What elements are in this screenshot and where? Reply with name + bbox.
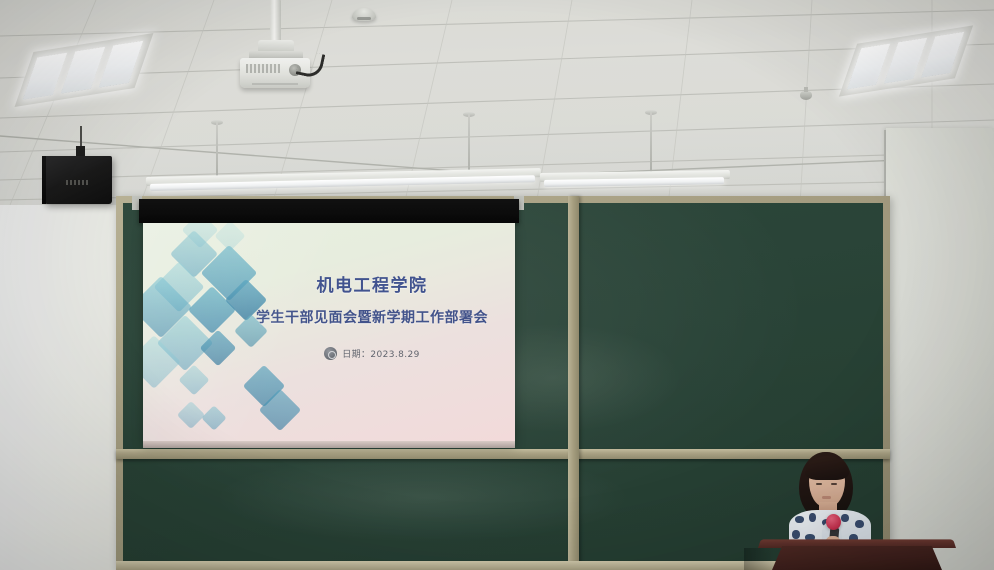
slide-date-label: 日期：2023.8.29 [342,347,420,360]
right-wall-pillar [886,128,994,570]
light-hanger-rod [468,114,470,178]
speaker-logo [66,180,88,185]
fabric-pattern [795,516,804,523]
decor-diamond [177,401,205,429]
projection-screen-casing[interactable] [139,199,519,223]
slide-subheading: 学生干部见面会暨新学期工作部署会 [237,307,507,327]
fabric-pattern [855,520,864,528]
wall-speaker [44,156,112,204]
fabric-pattern [841,514,849,522]
light-hanger-rod [216,122,218,180]
tube-light-lamp [544,177,724,187]
projector-trim [252,83,298,85]
decor-diamond [214,223,245,252]
light-hanger-rod [650,112,652,174]
left-wall-panel [0,150,132,570]
projection-screen[interactable]: 机电工程学院 学生干部见面会暨新学期工作部署会 日期：2023.8.29 [143,223,515,443]
projector-vent [246,64,280,73]
slide-heading: 机电工程学院 [237,271,507,296]
slide-date-row: 日期：2023.8.29 [237,347,507,360]
blackboard-middle-rail [116,449,890,459]
microphone-icon [826,514,841,530]
speaker-wire [80,126,82,148]
podium-front-panel [772,546,942,570]
eye [816,483,822,485]
mouth [822,496,831,499]
wooden-podium [758,538,956,570]
fabric-pattern [809,513,816,522]
classroom-scene: 机电工程学院 学生干部见面会暨新学期工作部署会 日期：2023.8.29 [0,0,994,570]
blackboard-vertical-rail [568,196,579,570]
slide-text-block: 机电工程学院 学生干部见面会暨新学期工作部署会 日期：2023.8.29 [237,271,507,360]
projection-screen-weight-bar [143,441,515,448]
decor-diamond [201,405,226,430]
ceiling-sprinkler-icon [800,91,812,100]
clock-badge-icon [324,347,337,360]
suspended-tube-light-right [540,170,730,189]
smoke-detector-icon [352,8,376,21]
eye [831,483,837,485]
projector-mount-pole [270,0,281,42]
